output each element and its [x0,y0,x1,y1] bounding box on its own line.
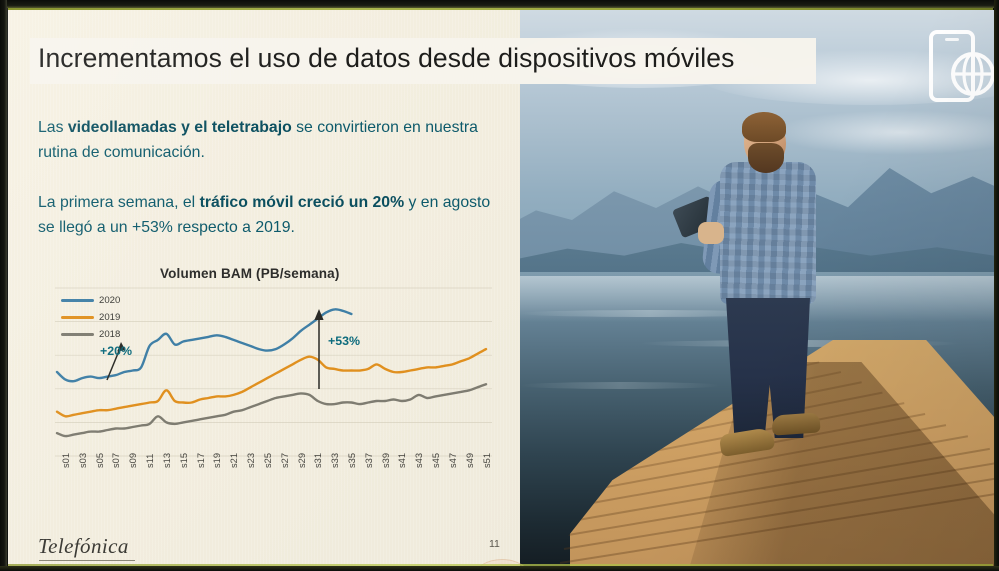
x-tick-s05: s05 [95,453,105,468]
x-tick-s37: s37 [364,453,374,468]
photo-person-beard [748,143,784,173]
paragraph2-pre: La primera semana, el [38,194,200,211]
x-tick-s19: s19 [212,453,222,468]
brand-underline [39,560,135,561]
x-tick-s27: s27 [280,453,290,468]
x-tick-s45: s45 [431,453,441,468]
x-tick-s03: s03 [78,453,88,468]
x-tick-s47: s47 [448,453,458,468]
page-number: 11 [489,538,500,550]
x-tick-s43: s43 [414,453,424,468]
bezel-right [994,0,999,571]
x-tick-s21: s21 [229,453,239,468]
photo-water-streak [520,382,720,389]
bezel-left [0,0,7,571]
chart-gridlines [55,288,492,456]
mobile-globe-icon [925,28,994,106]
x-tick-s11: s11 [145,454,155,468]
photo-person-hair [742,112,786,142]
x-tick-s23: s23 [246,453,256,468]
paragraph-videollamadas: Las videollamadas y el teletrabajo se co… [38,115,508,165]
paragraph-trafico: La primera semana, el tráfico móvil crec… [38,190,508,240]
chart-x-axis-labels: s01s03s05s07s09s11s13s15s17s19s21s23s25s… [55,466,492,512]
x-tick-s09: s09 [128,453,138,468]
x-tick-s13: s13 [162,453,172,468]
paragraph1-pre: Las [38,119,68,136]
x-tick-s35: s35 [347,453,357,468]
x-tick-s41: s41 [397,453,407,468]
x-tick-s07: s07 [111,453,121,468]
series-line-2018 [57,384,486,436]
brand-wordmark: Telefónica [38,534,135,559]
volumen-bam-chart: Volumen BAM (PB/semana) 202020192018 [50,266,502,516]
bezel-top [0,0,999,8]
telefonica-logo: Telefónica [38,534,135,561]
x-tick-s39: s39 [381,453,391,468]
series-line-2019 [57,349,486,416]
x-tick-s31: s31 [313,453,323,468]
photo-person-torso [720,162,816,304]
annotation-plus-53: +53% [328,334,360,348]
x-tick-s25: s25 [263,453,273,468]
x-tick-s49: s49 [465,453,475,468]
x-tick-s51: s51 [482,453,492,468]
paragraph2-bold: tráfico móvil creció un 20% [200,194,405,211]
bezel-bottom [0,566,999,571]
chart-series-lines [57,309,486,436]
x-tick-s15: s15 [179,453,189,468]
x-tick-s33: s33 [330,453,340,468]
photo-person-shoe [771,412,820,435]
page-title: Incrementamos el uso de datos desde disp… [38,43,828,74]
x-tick-s17: s17 [196,453,206,468]
x-tick-s01: s01 [61,453,71,468]
chart-plot-area [55,284,492,462]
paragraph1-bold: videollamadas y el teletrabajo [68,119,292,136]
x-tick-s29: s29 [297,453,307,468]
slide-photo [520,10,994,566]
photographed-screen: Incrementamos el uso de datos desde disp… [0,0,999,571]
presentation-slide: Incrementamos el uso de datos desde disp… [8,10,994,566]
chart-title: Volumen BAM (PB/semana) [160,266,339,281]
annotation-plus-20: +20% [100,344,132,358]
chart-svg [55,284,492,462]
photo-person-hand [698,222,724,244]
